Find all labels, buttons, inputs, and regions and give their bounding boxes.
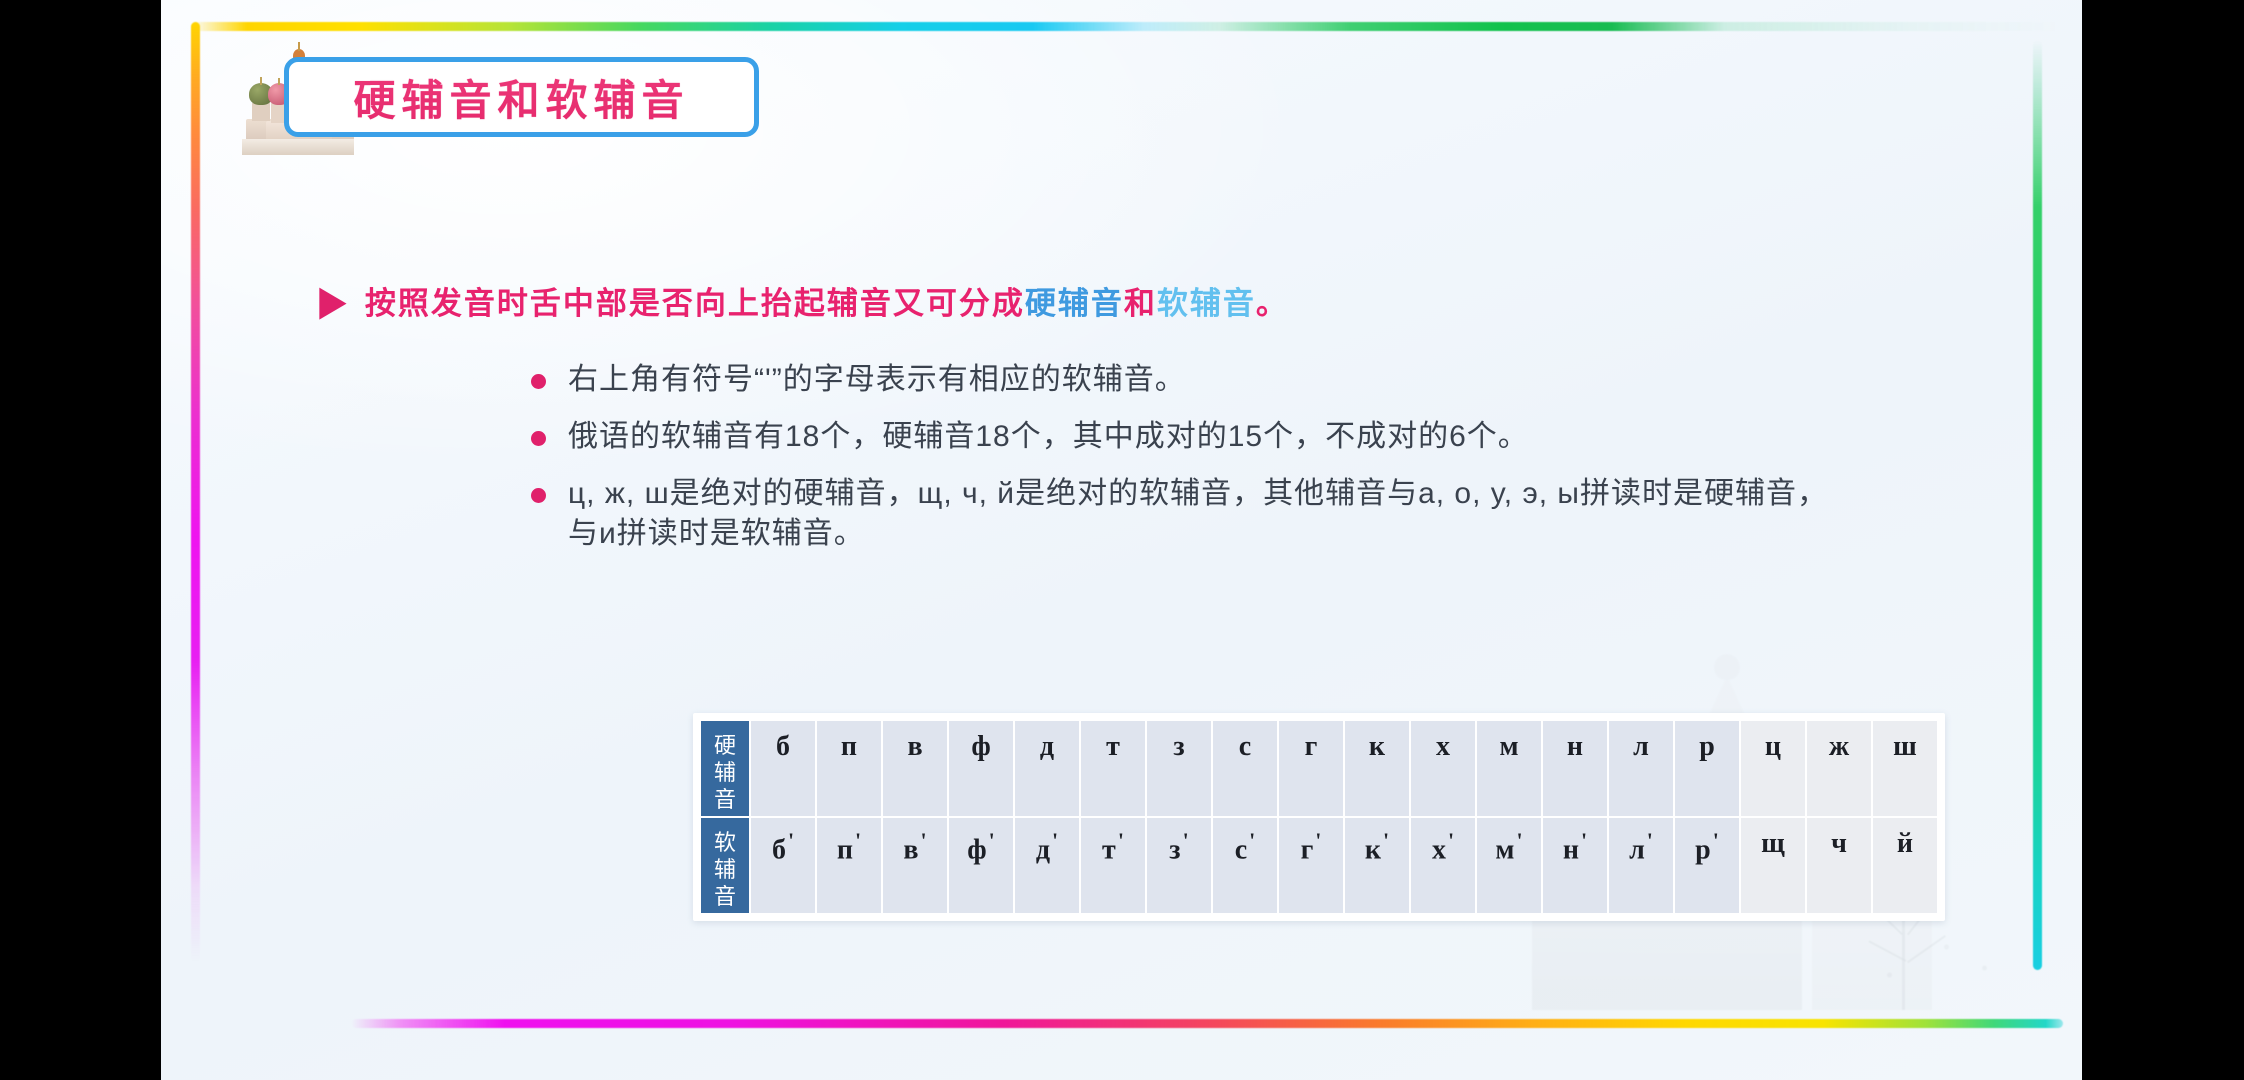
list-item: 右上角有符号“'”的字母表示有相应的软辅音。 (531, 360, 1831, 401)
keyword-soft-consonant: 软辅音 (1157, 286, 1256, 321)
bullet-text: ц, ж, ш是绝对的硬辅音，щ, ч, й是绝对的软辅音，其他辅音与а, о,… (568, 474, 1831, 556)
triangle-right-icon: ▶ (319, 280, 346, 322)
hard-consonant-cell: с (1213, 721, 1277, 816)
bullet-dot-icon (531, 431, 546, 446)
soft-consonant-cell: л' (1609, 818, 1673, 913)
lead-conjunction: 和 (1124, 286, 1157, 321)
bullet-text: 俄语的软辅音有18个，硬辅音18个，其中成对的15个，不成对的6个。 (568, 417, 1529, 458)
soft-consonant-cell: ф' (949, 818, 1013, 913)
keyword-hard-consonant: 硬辅音 (1025, 286, 1124, 321)
slide-title-block: 硬辅音和软辅音 (206, 45, 826, 155)
row-header-soft: 软辅音 (701, 818, 749, 913)
page-title: 硬辅音和软辅音 (353, 67, 689, 128)
frame-border-left (191, 22, 200, 962)
soft-consonant-cell: н' (1543, 818, 1607, 913)
soft-consonant-cell: в' (883, 818, 947, 913)
hard-consonant-cell: н (1543, 721, 1607, 816)
soft-consonant-cell: с' (1213, 818, 1277, 913)
soft-consonant-cell: г' (1279, 818, 1343, 913)
soft-consonant-cell: з' (1147, 818, 1211, 913)
soft-consonant-cell: т' (1081, 818, 1145, 913)
soft-consonant-cell: щ (1741, 818, 1805, 913)
soft-consonant-cell: р' (1675, 818, 1739, 913)
soft-consonant-cell: ч (1807, 818, 1871, 913)
lead-statement: ▶ 按照发音时舌中部是否向上抬起辅音又可分成硬辅音和软辅音。 (321, 278, 1289, 323)
row-header-hard: 硬辅音 (701, 721, 749, 816)
bullet-list: 右上角有符号“'”的字母表示有相应的软辅音。 俄语的软辅音有18个，硬辅音18个… (531, 360, 1831, 571)
hard-consonant-cell: в (883, 721, 947, 816)
hard-consonant-cell: ж (1807, 721, 1871, 816)
list-item: ц, ж, ш是绝对的硬辅音，щ, ч, й是绝对的软辅音，其他辅音与а, о,… (531, 474, 1831, 556)
soft-consonant-cell: д' (1015, 818, 1079, 913)
bullet-text: 右上角有符号“'”的字母表示有相应的软辅音。 (568, 360, 1186, 401)
bullet-dot-icon (531, 374, 546, 389)
hard-consonant-cell: л (1609, 721, 1673, 816)
hard-consonant-cell: д (1015, 721, 1079, 816)
soft-consonant-cell: к' (1345, 818, 1409, 913)
soft-consonant-cell: м' (1477, 818, 1541, 913)
hard-consonant-cell: р (1675, 721, 1739, 816)
hard-consonant-cell: б (751, 721, 815, 816)
slide-title-box: 硬辅音和软辅音 (284, 57, 759, 137)
frame-border-top (191, 22, 2061, 31)
hard-consonant-cell: м (1477, 721, 1541, 816)
hard-consonant-cell: п (817, 721, 881, 816)
slide-canvas: 硬辅音和软辅音 ▶ 按照发音时舌中部是否向上抬起辅音又可分成硬辅音和软辅音。 右… (161, 0, 2082, 1080)
hard-consonant-cell: ц (1741, 721, 1805, 816)
hard-consonant-cell: к (1345, 721, 1409, 816)
soft-consonant-cell: б' (751, 818, 815, 913)
hard-consonant-cell: ф (949, 721, 1013, 816)
consonant-pairs-table: 硬辅音 бпвфдтзсгкхмнлрцжш 软辅音 б'п'в'ф'д'т'з… (693, 713, 1945, 921)
video-stage: 硬辅音和软辅音 ▶ 按照发音时舌中部是否向上抬起辅音又可分成硬辅音和软辅音。 右… (0, 0, 2244, 1080)
hard-consonant-cell: х (1411, 721, 1475, 816)
hard-consonant-cell: з (1147, 721, 1211, 816)
hard-consonant-cell: г (1279, 721, 1343, 816)
frame-border-right (2033, 40, 2042, 970)
frame-border-bottom (351, 1019, 2063, 1028)
soft-consonant-cell: й (1873, 818, 1937, 913)
table-row-soft: 软辅音 б'п'в'ф'д'т'з'с'г'к'х'м'н'л'р'щчй (701, 818, 1937, 913)
hard-consonant-cell: т (1081, 721, 1145, 816)
bullet-dot-icon (531, 488, 546, 503)
lead-text-part1: 按照发音时舌中部是否向上抬起辅音又可分成 (365, 286, 1025, 321)
hard-consonant-cell: ш (1873, 721, 1937, 816)
list-item: 俄语的软辅音有18个，硬辅音18个，其中成对的15个，不成对的6个。 (531, 417, 1831, 458)
soft-consonant-cell: п' (817, 818, 881, 913)
table-row-hard: 硬辅音 бпвфдтзсгкхмнлрцжш (701, 721, 1937, 816)
soft-consonant-cell: х' (1411, 818, 1475, 913)
lead-period: 。 (1256, 286, 1289, 321)
